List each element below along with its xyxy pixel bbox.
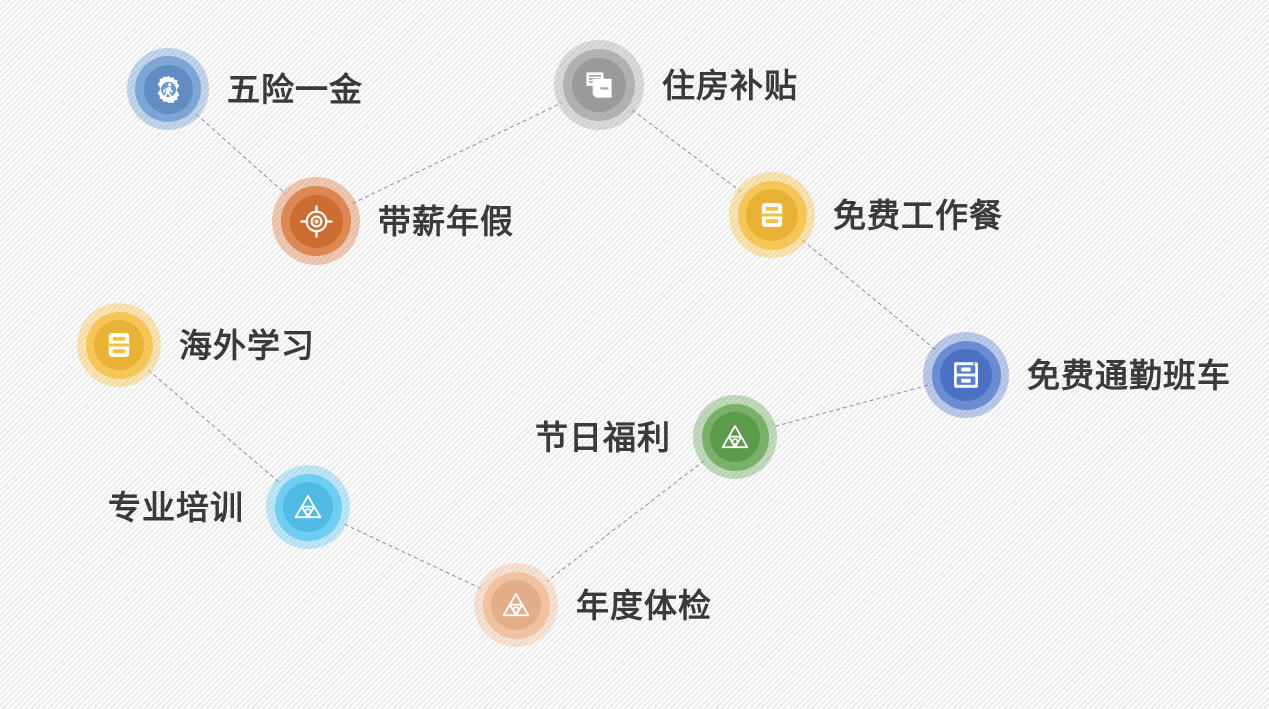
benefit-bubble-paid-annual-leave[interactable] [272, 177, 360, 265]
benefit-bubble-social-insurance[interactable] [127, 48, 209, 130]
gear-person-icon [152, 73, 185, 106]
benefit-label-free-meals: 免费工作餐 [833, 199, 1003, 232]
benefit-label-free-shuttle-bus: 免费通勤班车 [1027, 359, 1231, 392]
benefit-bubble-annual-health-check[interactable] [474, 563, 558, 647]
connector-annual-check-to-professional-training [343, 524, 481, 589]
benefit-bubble-overseas-study[interactable] [77, 303, 161, 387]
benefit-label-annual-health-check: 年度体检 [576, 589, 712, 622]
benefit-node-professional-training[interactable]: 专业培训 [108, 465, 350, 549]
benefit-label-overseas-study: 海外学习 [179, 329, 315, 362]
triangle-icon [291, 490, 325, 524]
benefit-bubble-professional-training[interactable] [266, 465, 350, 549]
benefit-label-professional-training: 专业培训 [108, 491, 244, 524]
benefit-label-social-insurance: 五险一金 [227, 73, 363, 106]
triangle-icon [499, 588, 533, 622]
benefit-node-social-insurance[interactable]: 五险一金 [127, 48, 363, 130]
benefit-bubble-free-meals[interactable] [729, 172, 815, 258]
benefit-node-overseas-study[interactable]: 海外学习 [77, 303, 315, 387]
lunchbox-icon [755, 198, 789, 232]
benefit-bubble-housing-subsidy[interactable] [554, 40, 644, 130]
benefits-diagram-canvas: 五险一金 住房补贴 [0, 0, 1269, 709]
benefit-label-paid-annual-leave: 带薪年假 [378, 205, 514, 238]
triangle-icon [718, 420, 752, 454]
lunchbox-icon [102, 328, 136, 362]
benefit-node-housing-subsidy[interactable]: 住房补贴 [554, 40, 798, 130]
benefit-bubble-free-shuttle-bus[interactable] [923, 332, 1009, 418]
benefit-node-paid-annual-leave[interactable]: 带薪年假 [272, 177, 514, 265]
target-icon [299, 204, 334, 239]
benefit-label-housing-subsidy: 住房补贴 [662, 69, 798, 102]
benefit-label-holiday-benefits: 节日福利 [535, 421, 671, 454]
connector-free-shuttle-bus-to-holiday-benefits [772, 385, 928, 427]
benefit-node-holiday-benefits[interactable]: 节日福利 [535, 395, 777, 479]
benefit-node-annual-health-check[interactable]: 年度体检 [474, 563, 712, 647]
benefit-node-free-meals[interactable]: 免费工作餐 [729, 172, 1003, 258]
documents-icon [581, 67, 617, 103]
benefit-node-free-shuttle-bus[interactable]: 免费通勤班车 [923, 332, 1231, 418]
benefit-bubble-holiday-benefits[interactable] [693, 395, 777, 479]
bus-icon [949, 358, 983, 392]
